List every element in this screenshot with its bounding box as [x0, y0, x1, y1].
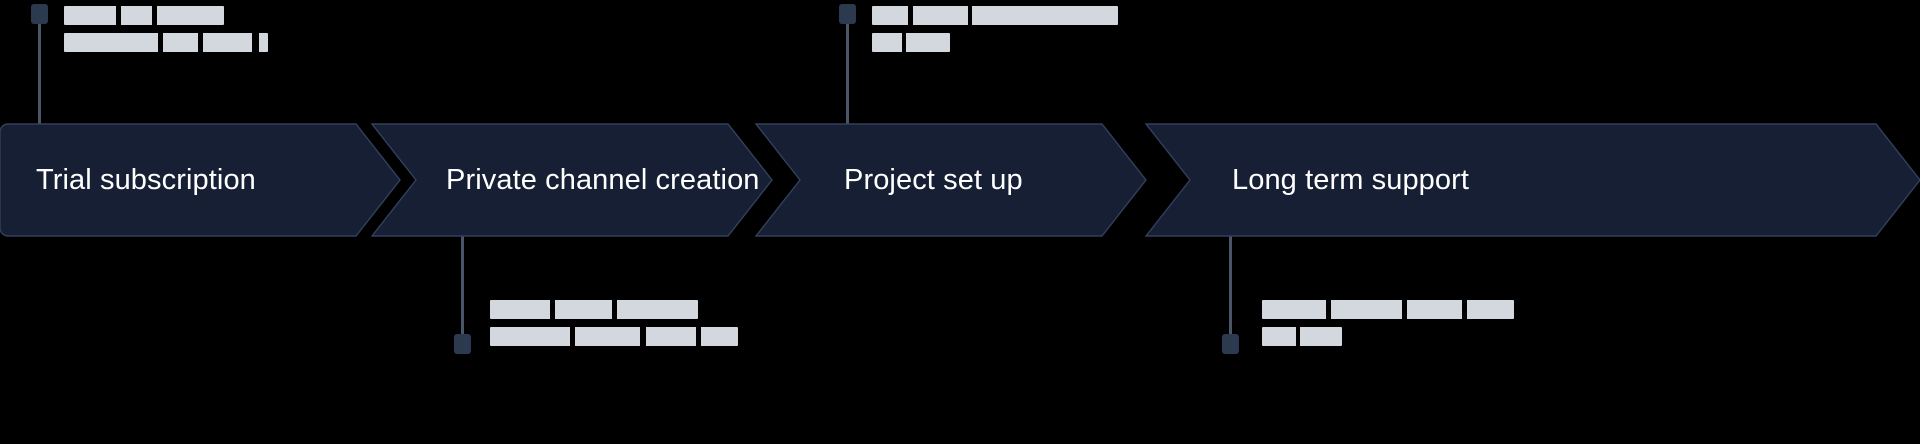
redaction-gap — [1402, 300, 1407, 319]
connector-line-step-1 — [38, 20, 41, 130]
redaction-gap — [1296, 327, 1300, 346]
redaction-gap — [252, 33, 259, 52]
redaction-gap — [152, 6, 157, 25]
redaction-gap — [158, 33, 163, 52]
process-step-3[interactable]: Project set up — [756, 124, 1146, 236]
redaction-gap — [902, 33, 906, 52]
redaction-gap — [968, 6, 972, 25]
connector-line-step-3 — [846, 20, 849, 130]
chevron-shape-2 — [372, 124, 772, 236]
connector-line-step-4 — [1229, 232, 1232, 342]
chevron-shape-4 — [1146, 124, 1920, 236]
connector-cap-step-1 — [31, 4, 48, 24]
redaction-gap — [550, 300, 555, 319]
redaction-gap — [696, 327, 701, 346]
annotation-step-4 — [1262, 300, 1514, 346]
connector-line-step-2 — [461, 232, 464, 342]
connector-cap-step-3 — [839, 4, 856, 24]
redacted-text-line — [872, 33, 950, 52]
process-flow-diagram: Trial subscription Private channel creat… — [0, 0, 1920, 444]
annotation-step-1 — [64, 6, 268, 52]
redacted-text-line — [1262, 300, 1514, 319]
chevron-shape-3 — [756, 124, 1146, 236]
connector-cap-step-2 — [454, 334, 471, 354]
annotation-step-3 — [872, 6, 1118, 52]
redaction-gap — [640, 327, 646, 346]
connector-cap-step-4 — [1222, 334, 1239, 354]
redacted-text-line — [872, 6, 1118, 25]
chevron-shape-1 — [0, 124, 400, 236]
process-step-2[interactable]: Private channel creation — [372, 124, 772, 236]
redacted-text-line — [490, 300, 698, 319]
annotation-step-2 — [490, 300, 738, 346]
redaction-gap — [1326, 300, 1331, 319]
redaction-gap — [1462, 300, 1467, 319]
process-step-4[interactable]: Long term support — [1146, 124, 1920, 236]
redaction-gap — [570, 327, 575, 346]
chevron-band: Trial subscription Private channel creat… — [0, 124, 1920, 236]
process-step-1[interactable]: Trial subscription — [0, 124, 400, 236]
redacted-text-line — [64, 33, 268, 52]
redaction-gap — [612, 300, 617, 319]
redacted-text-line — [1262, 327, 1342, 346]
redacted-text-line — [64, 6, 224, 25]
redaction-gap — [116, 6, 121, 25]
redacted-text-line — [490, 327, 738, 346]
redaction-gap — [908, 6, 913, 25]
redaction-gap — [198, 33, 203, 52]
